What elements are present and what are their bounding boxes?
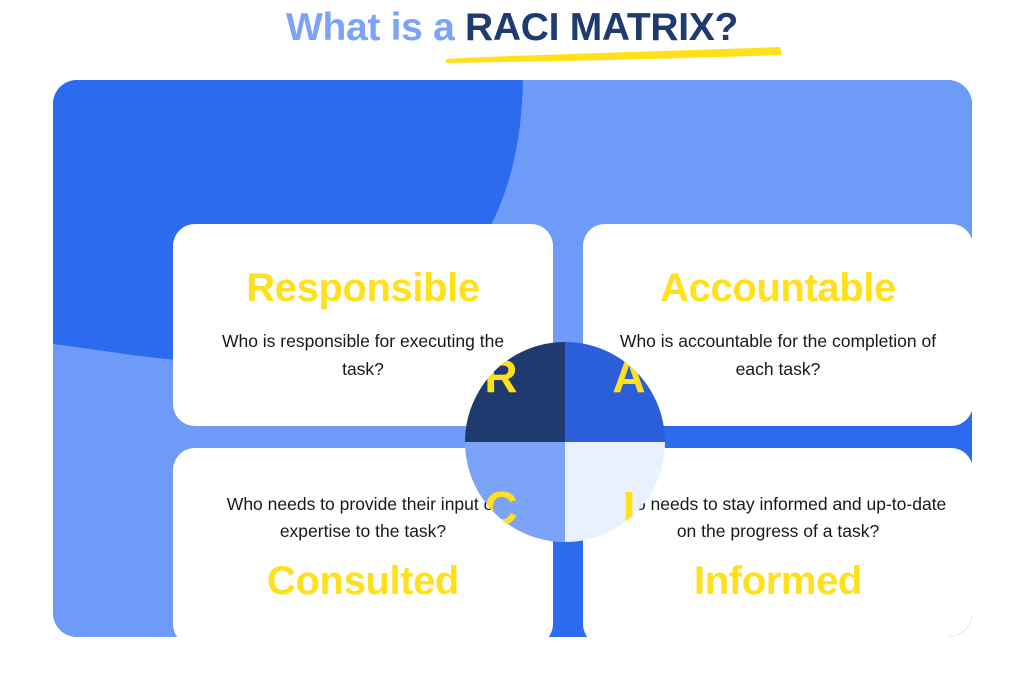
circle-letter-r: R <box>484 353 517 399</box>
circle-quadrant-a: A <box>565 342 665 442</box>
circle-quadrant-c: C <box>465 442 565 542</box>
circle-quadrant-i: I <box>565 442 665 542</box>
card-consulted-title: Consulted <box>199 560 527 603</box>
circle-letter-i: I <box>623 485 636 531</box>
title-underline-stroke <box>444 46 782 63</box>
page-title: What is a RACI MATRIX? <box>0 6 1024 50</box>
circle-letter-c: C <box>484 485 517 531</box>
card-informed-title: Informed <box>609 560 947 603</box>
card-accountable-title: Accountable <box>609 267 947 310</box>
page-title-dark-part: RACI MATRIX? <box>465 6 738 49</box>
raci-center-circle: R A C I <box>465 342 665 542</box>
card-responsible-title: Responsible <box>199 267 527 310</box>
circle-quadrant-r: R <box>465 342 565 442</box>
title-block: What is a RACI MATRIX? <box>0 0 1024 80</box>
raci-matrix-panel: R A C I Responsible Who is responsible f… <box>53 80 972 637</box>
circle-letter-a: A <box>612 353 645 399</box>
page-title-light-part: What is a <box>286 6 465 49</box>
